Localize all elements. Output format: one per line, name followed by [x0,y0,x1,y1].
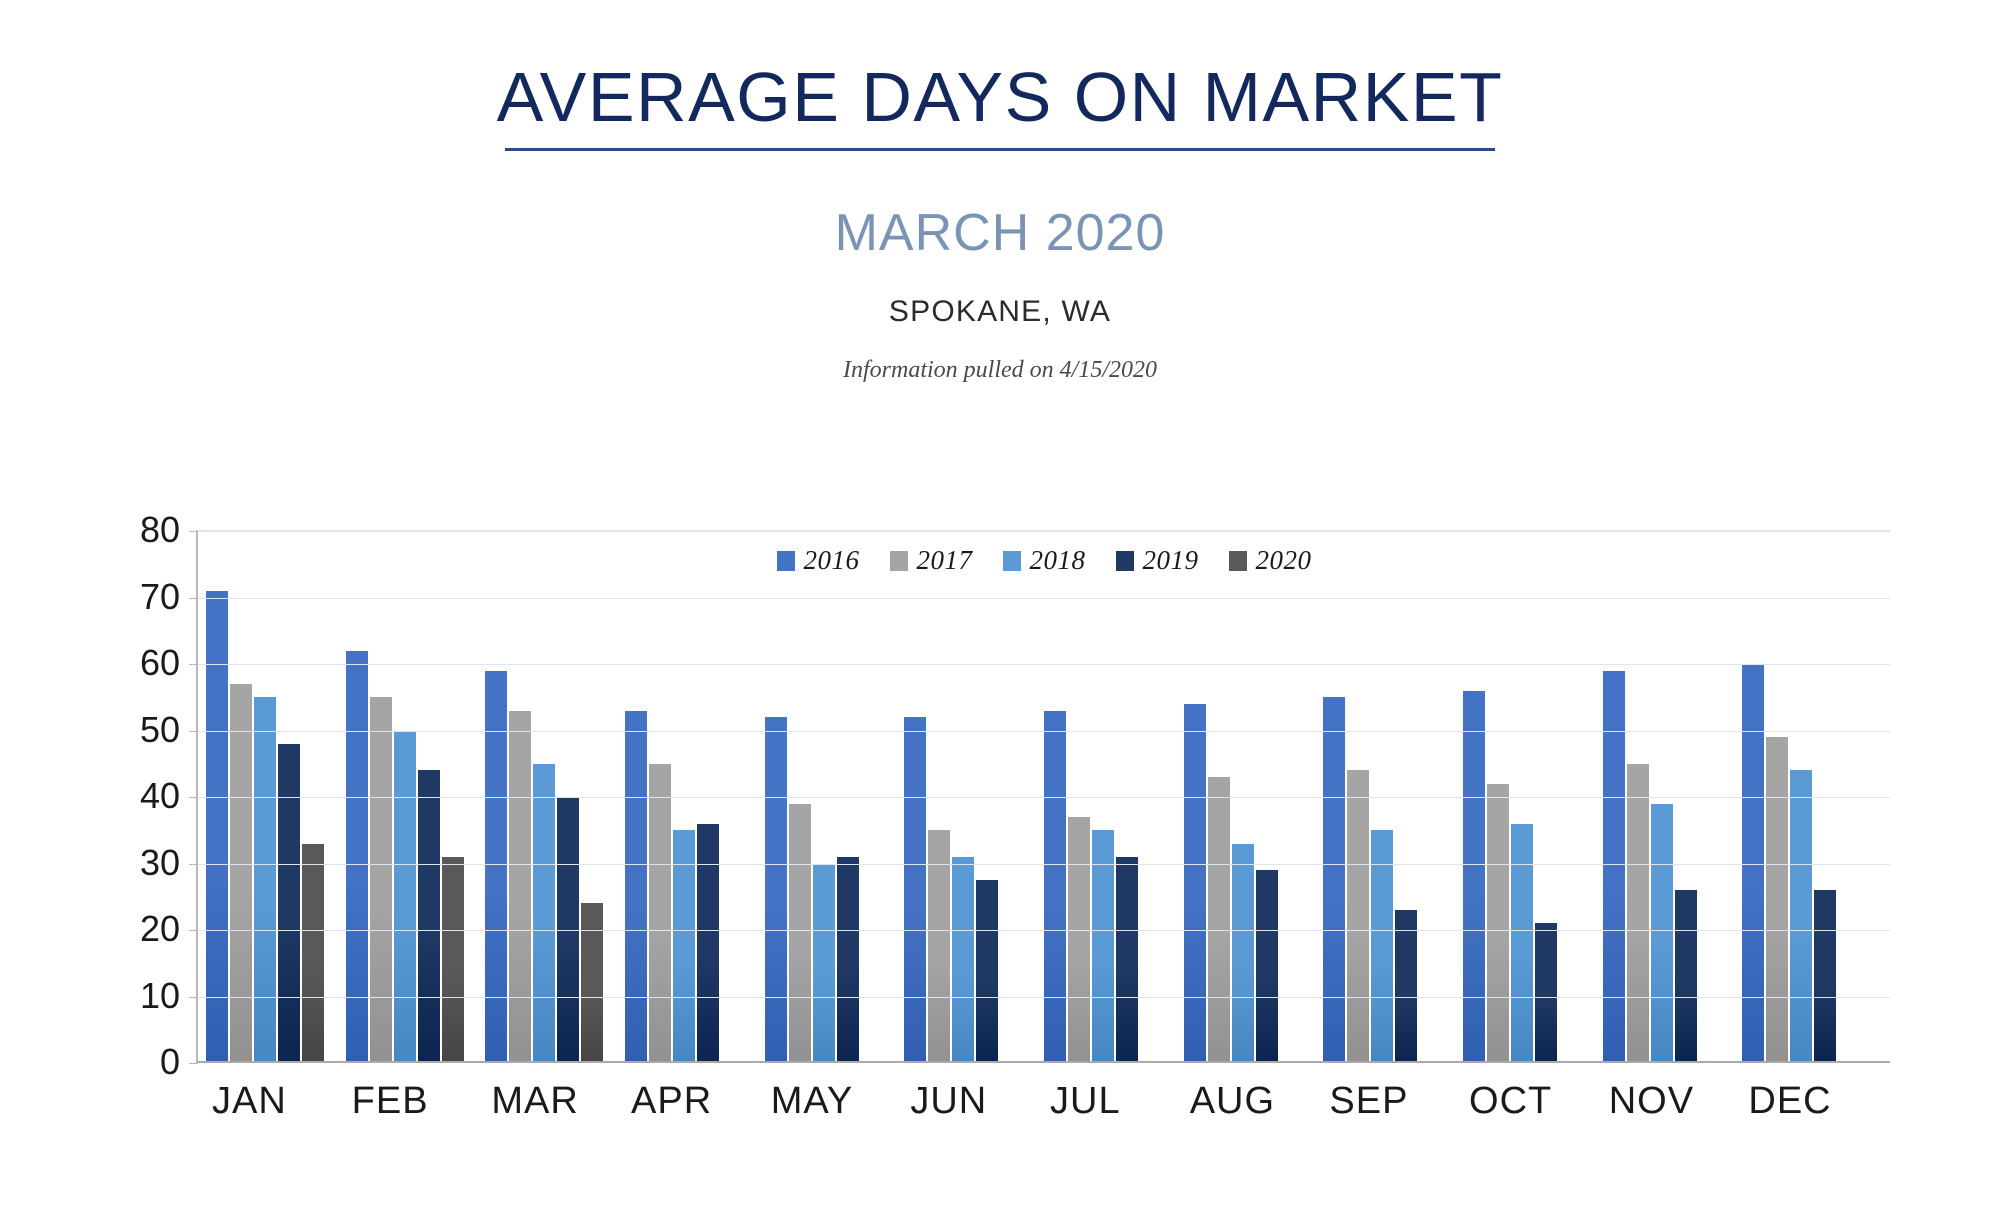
bar-jun-2016[interactable] [904,717,926,1063]
bar-feb-2020[interactable] [442,857,464,1063]
bar-mar-2018[interactable] [533,764,555,1063]
x-axis-label-aug: AUG [1182,1080,1322,1123]
page-header: AVERAGE DAYS ON MARKET MARCH 2020 SPOKAN… [0,0,2000,384]
y-axis-tick [189,864,198,865]
bar-nov-2018[interactable] [1651,804,1673,1063]
x-axis-label-oct: OCT [1461,1080,1601,1123]
bar-jun-2018[interactable] [952,857,974,1063]
legend-swatch-icon [1116,551,1134,571]
legend-item-2020[interactable]: 2020 [1229,545,1312,576]
report-location: SPOKANE, WA [0,295,2000,329]
bar-sep-2019[interactable] [1395,910,1417,1063]
gridline [198,664,1890,665]
bar-apr-2019[interactable] [697,824,719,1063]
bar-jan-2016[interactable] [206,591,228,1063]
x-axis-label-feb: FEB [344,1080,484,1123]
bar-nov-2016[interactable] [1603,671,1625,1063]
bar-feb-2016[interactable] [346,651,368,1063]
y-axis-tick-label: 80 [118,512,180,548]
data-pulled-note: Information pulled on 4/15/2020 [0,357,2000,384]
y-axis-tick-label: 30 [118,845,180,881]
bar-sep-2018[interactable] [1371,830,1393,1063]
y-axis-tick [189,531,198,532]
legend-label: 2016 [804,545,860,576]
bar-nov-2017[interactable] [1627,764,1649,1063]
x-axis-label-nov: NOV [1601,1080,1741,1123]
bar-jan-2018[interactable] [254,697,276,1063]
bar-mar-2017[interactable] [509,711,531,1063]
legend-swatch-icon [1003,551,1021,571]
x-axis-label-jul: JUL [1042,1080,1182,1123]
chart-legend: 20162017201820192020 [198,545,1890,576]
bar-apr-2017[interactable] [649,764,671,1063]
bar-may-2018[interactable] [813,864,835,1064]
legend-item-2019[interactable]: 2019 [1116,545,1199,576]
bar-jun-2019[interactable] [976,880,998,1063]
y-axis-tick-label: 40 [118,778,180,814]
bar-aug-2017[interactable] [1208,777,1230,1063]
y-axis-labels: 01020304050607080 [118,512,180,1062]
x-axis-label-mar: MAR [483,1080,623,1123]
legend-swatch-icon [890,551,908,571]
legend-item-2016[interactable]: 2016 [777,545,860,576]
bar-feb-2019[interactable] [418,770,440,1063]
bar-chart: 01020304050607080 20162017201820192020 J… [0,512,2000,1192]
y-axis-tick [189,664,198,665]
bar-apr-2018[interactable] [673,830,695,1063]
bar-apr-2016[interactable] [625,711,647,1063]
y-axis-tick-label: 0 [118,1044,180,1080]
page-title: AVERAGE DAYS ON MARKET [487,62,1514,148]
y-axis-tick [189,797,198,798]
bar-jan-2020[interactable] [302,844,324,1063]
y-axis-tick [189,731,198,732]
y-axis-tick-label: 70 [118,579,180,615]
legend-swatch-icon [1229,551,1247,571]
bar-mar-2016[interactable] [485,671,507,1063]
gridline [198,930,1890,931]
legend-swatch-icon [777,551,795,571]
bar-dec-2017[interactable] [1766,737,1788,1063]
bar-oct-2016[interactable] [1463,691,1485,1063]
gridline [198,598,1890,599]
bar-feb-2018[interactable] [394,731,416,1064]
bar-may-2016[interactable] [765,717,787,1063]
gridline [198,731,1890,732]
bar-dec-2018[interactable] [1790,770,1812,1063]
y-axis-tick-label: 20 [118,911,180,947]
legend-item-2018[interactable]: 2018 [1003,545,1086,576]
y-axis-tick-label: 10 [118,978,180,1014]
x-axis-labels: JANFEBMARAPRMAYJUNJULAUGSEPOCTNOVDEC [196,1080,1888,1123]
y-axis-tick [189,1063,198,1064]
bar-jul-2018[interactable] [1092,830,1114,1063]
page-title-block: AVERAGE DAYS ON MARKET [0,62,2000,151]
bar-oct-2018[interactable] [1511,824,1533,1063]
bar-aug-2016[interactable] [1184,704,1206,1063]
bar-may-2017[interactable] [789,804,811,1063]
bar-jul-2016[interactable] [1044,711,1066,1063]
gridline [198,531,1890,532]
bar-aug-2019[interactable] [1256,870,1278,1063]
legend-label: 2020 [1256,545,1312,576]
bar-jan-2019[interactable] [278,744,300,1063]
bar-mar-2020[interactable] [581,903,603,1063]
bar-sep-2017[interactable] [1347,770,1369,1063]
x-axis-line [198,1061,1890,1063]
bar-feb-2017[interactable] [370,697,392,1063]
bar-aug-2018[interactable] [1232,844,1254,1063]
y-axis-tick-label: 60 [118,645,180,681]
x-axis-label-dec: DEC [1740,1080,1880,1123]
x-axis-label-jan: JAN [204,1080,344,1123]
bar-jul-2017[interactable] [1068,817,1090,1063]
y-axis-tick [189,997,198,998]
legend-label: 2019 [1143,545,1199,576]
legend-label: 2017 [917,545,973,576]
bar-jun-2017[interactable] [928,830,950,1063]
title-underline-rule [505,148,1495,151]
x-axis-label-may: MAY [763,1080,903,1123]
gridline [198,797,1890,798]
bar-dec-2019[interactable] [1814,890,1836,1063]
x-axis-label-sep: SEP [1321,1080,1461,1123]
x-axis-label-apr: APR [623,1080,763,1123]
bar-oct-2017[interactable] [1487,784,1509,1063]
x-axis-label-jun: JUN [902,1080,1042,1123]
bar-jan-2017[interactable] [230,684,252,1063]
bar-jul-2019[interactable] [1116,857,1138,1063]
bar-nov-2019[interactable] [1675,890,1697,1063]
plot-area: 20162017201820192020 [196,530,1890,1063]
y-axis-tick-label: 50 [118,712,180,748]
y-axis-tick [189,598,198,599]
gridline [198,864,1890,865]
report-period-subtitle: MARCH 2020 [0,203,2000,263]
y-axis-tick [189,930,198,931]
legend-label: 2018 [1030,545,1086,576]
bar-oct-2019[interactable] [1535,923,1557,1063]
bar-may-2019[interactable] [837,857,859,1063]
bar-sep-2016[interactable] [1323,697,1345,1063]
legend-item-2017[interactable]: 2017 [890,545,973,576]
gridline [198,997,1890,998]
